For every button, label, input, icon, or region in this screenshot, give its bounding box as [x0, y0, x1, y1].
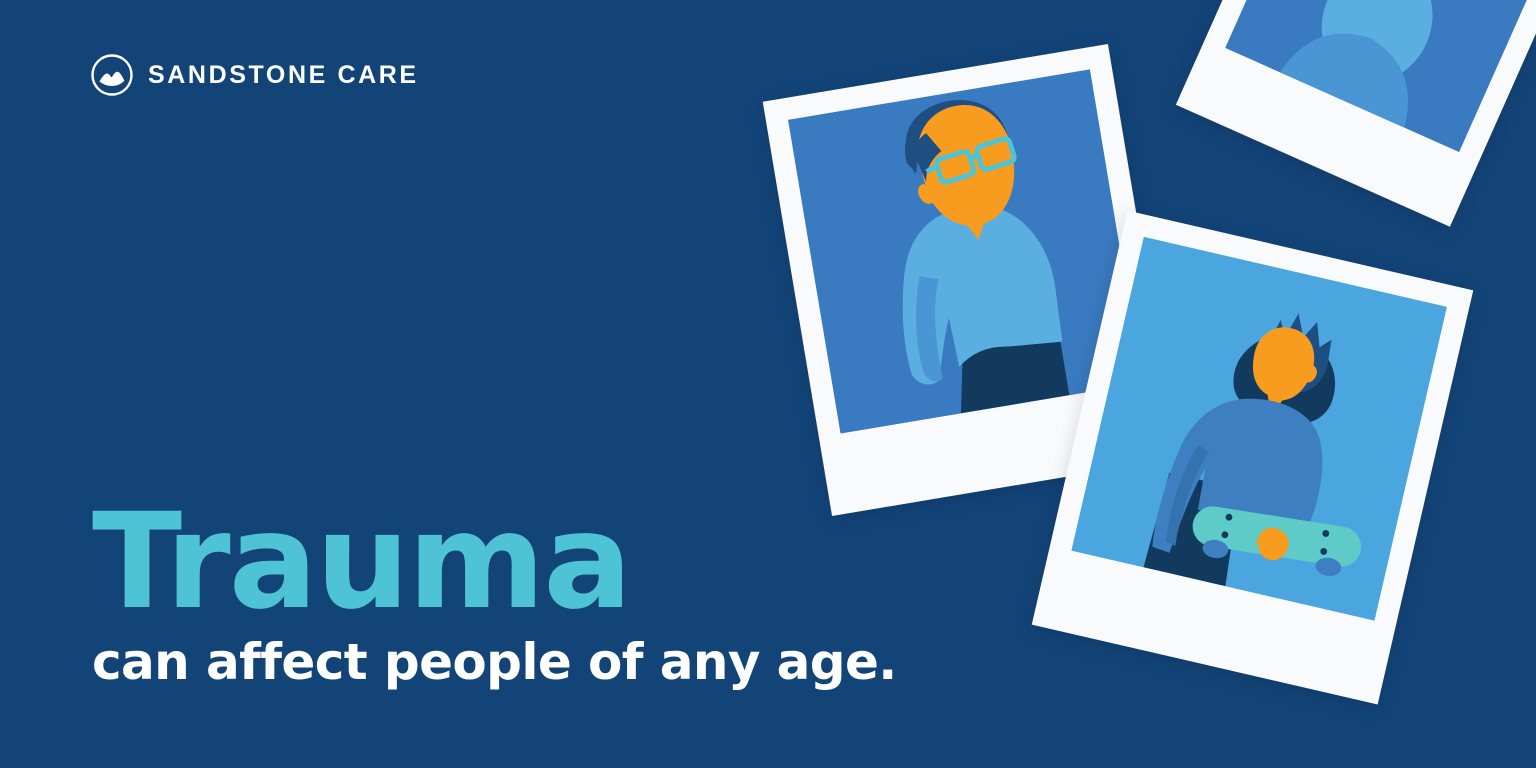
headline-secondary: can affect people of any age.	[92, 636, 992, 689]
partial-figure-illustration	[1225, 0, 1536, 152]
hero-headline-block: Trauma can affect people of any age.	[92, 500, 992, 689]
polaroid-photo-partial	[1176, 0, 1536, 227]
brand-wordmark: SANDSTONE CARE	[148, 63, 419, 88]
hero-banner: SANDSTONE CARE Trauma can affect people …	[0, 0, 1536, 768]
skateboarder-illustration	[1071, 237, 1446, 621]
photo-partial-top-right	[1225, 0, 1536, 152]
headline-primary: Trauma	[92, 500, 992, 624]
brand-logo[interactable]: SANDSTONE CARE	[90, 52, 419, 98]
mountain-circle-icon	[90, 53, 134, 97]
photo-skateboarder	[1071, 237, 1446, 621]
